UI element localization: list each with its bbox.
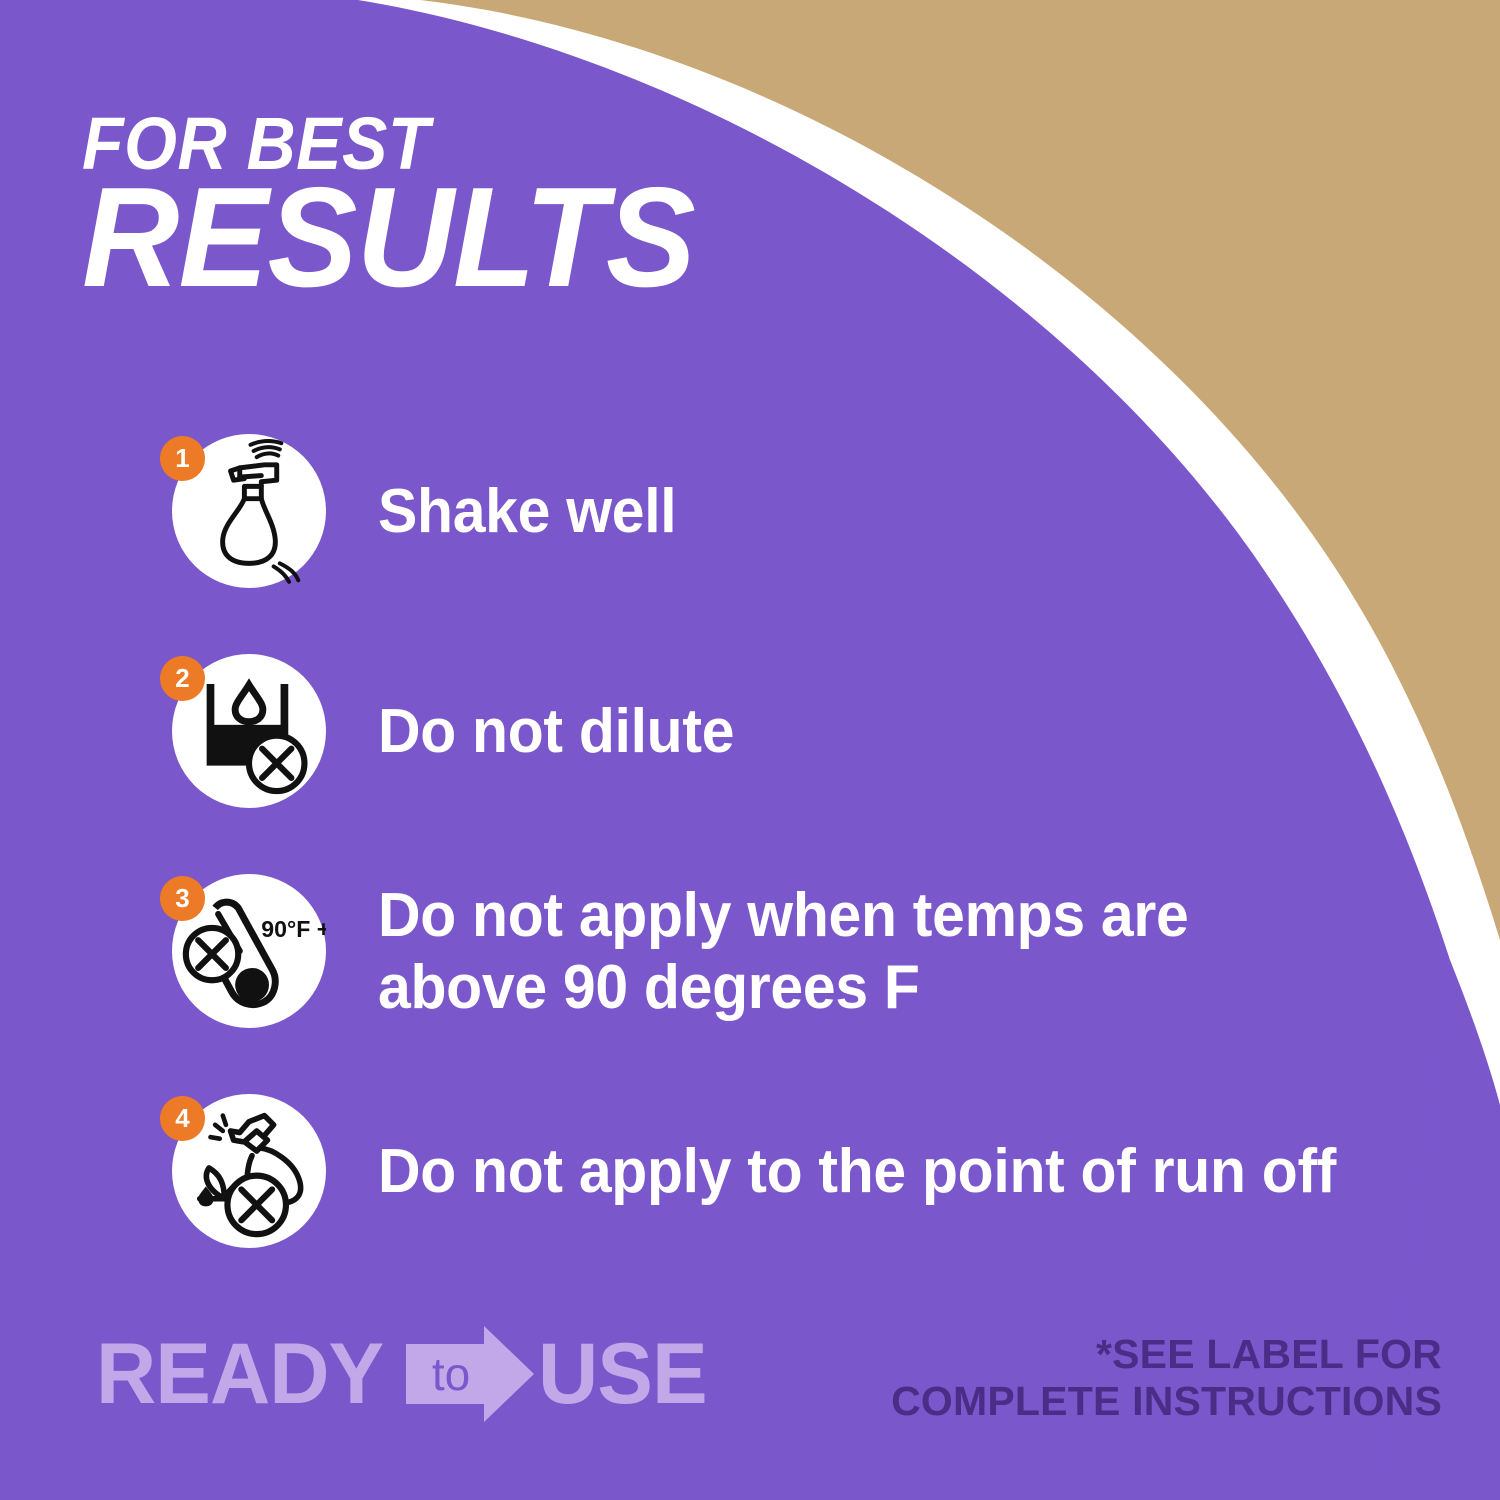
prohibition-x-mark [186, 928, 238, 980]
step-label: Shake well [378, 476, 676, 548]
footnote-line-1: *SEE LABEL FOR [891, 1331, 1442, 1379]
arrow-right-icon: to [406, 1326, 534, 1422]
step-label: Do not dilute [378, 696, 734, 768]
step-3-icon-wrap: 90°F + 3 [150, 864, 326, 1040]
headline-block: FOR BEST RESULTS [82, 108, 727, 304]
step-label: Do not apply to the point of run off [378, 1136, 1336, 1208]
temperature-label: 90°F + [261, 916, 326, 942]
poster-canvas: FOR BEST RESULTS [0, 0, 1500, 1500]
footnote-line-2: COMPLETE INSTRUCTIONS [891, 1378, 1442, 1426]
headline-line-2: RESULTS [82, 173, 695, 304]
ready-word: READY [96, 1331, 383, 1417]
water-droplet [235, 685, 263, 722]
step-4-icon-wrap: 4 [150, 1084, 326, 1260]
step-1-icon-wrap: 1 [150, 424, 326, 600]
step-number-badge: 4 [160, 1096, 205, 1141]
step-item: 2 Do not dilute [150, 644, 1450, 820]
step-number-badge: 1 [160, 436, 205, 481]
step-number-badge: 2 [160, 656, 205, 701]
step-item: 90°F + 3 Do not apply when temps are abo… [150, 864, 1450, 1040]
ready-to-use-lockup: READY to USE [96, 1326, 712, 1422]
step-item: 1 Shake well [150, 424, 1450, 600]
footnote-block: *SEE LABEL FOR COMPLETE INSTRUCTIONS [891, 1331, 1442, 1426]
step-label: Do not apply when temps are above 90 deg… [378, 880, 1338, 1024]
use-word: USE [538, 1331, 707, 1417]
steps-list: 1 Shake well 2 [150, 424, 1450, 1260]
step-number-badge: 3 [160, 876, 205, 921]
prohibition-x-mark [249, 736, 304, 791]
step-item: 4 Do not apply to the point of run off [150, 1084, 1450, 1260]
arrow-to-label: to [414, 1347, 488, 1401]
prohibition-x-mark [227, 1176, 286, 1235]
step-2-icon-wrap: 2 [150, 644, 326, 820]
